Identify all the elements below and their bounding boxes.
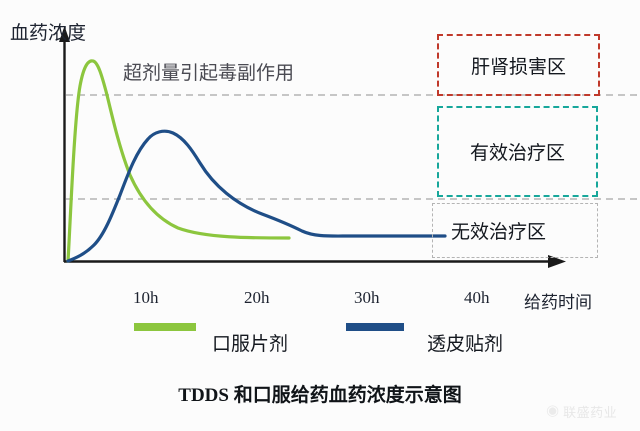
legend-swatch-patch bbox=[346, 323, 404, 331]
legend-swatch-oral bbox=[134, 323, 196, 331]
figure-caption: TDDS 和口服给药血药浓度示意图 bbox=[0, 380, 640, 407]
zone-label-toxic: 肝肾损害区 bbox=[471, 52, 566, 79]
series-line-oral bbox=[68, 61, 289, 261]
legend-label-patch: 透皮贴剂 bbox=[427, 329, 503, 356]
legend-label-oral: 口服片剂 bbox=[212, 329, 288, 356]
series-line-patch bbox=[68, 131, 445, 261]
zone-box-effective: 有效治疗区 bbox=[437, 106, 598, 197]
x-tick-label-40h: 40h bbox=[464, 288, 490, 308]
y-axis-label: 血药浓度 bbox=[10, 18, 86, 45]
watermark-text: 联盛药业 bbox=[563, 402, 617, 421]
weibo-icon: ◉ bbox=[546, 404, 559, 419]
zone-box-toxic: 肝肾损害区 bbox=[437, 34, 600, 96]
x-tick-label-10h: 10h bbox=[133, 288, 159, 308]
x-tick-label-20h: 20h bbox=[244, 288, 270, 308]
watermark: ◉ 联盛药业 bbox=[546, 402, 617, 421]
x-axis-label: 给药时间 bbox=[524, 288, 592, 313]
x-tick-label-30h: 30h bbox=[354, 288, 380, 308]
figure-canvas: 血药浓度 给药时间 超剂量引起毒副作用 肝肾损害区 有效治疗区 无效治疗区 10… bbox=[0, 0, 640, 431]
toxic-overdose-annotation: 超剂量引起毒副作用 bbox=[123, 58, 294, 85]
zone-label-ineffective: 无效治疗区 bbox=[451, 217, 546, 244]
zone-box-ineffective: 无效治疗区 bbox=[432, 203, 598, 258]
zone-label-effective: 有效治疗区 bbox=[470, 138, 565, 165]
